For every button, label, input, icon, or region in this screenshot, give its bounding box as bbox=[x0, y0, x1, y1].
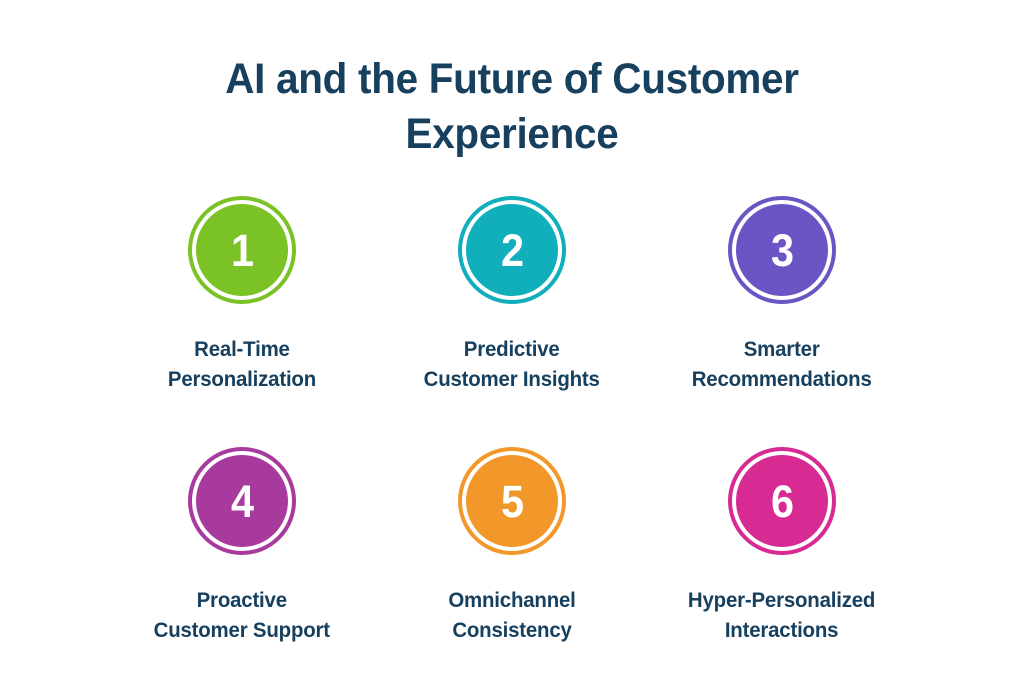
badge-3-number: 3 bbox=[771, 228, 793, 273]
item-2: 2 Predictive Customer Insights bbox=[377, 196, 647, 394]
item-3-caption-line-2: Recommendations bbox=[692, 364, 872, 394]
item-6-caption: Hyper-Personalized Interactions bbox=[683, 585, 880, 645]
item-1-caption: Real-Time Personalization bbox=[164, 334, 320, 394]
item-1-caption-line-2: Personalization bbox=[168, 364, 316, 394]
badge-2-number: 2 bbox=[501, 228, 523, 273]
item-6-caption-line-2: Interactions bbox=[688, 615, 875, 645]
item-5-caption-line-2: Consistency bbox=[448, 615, 575, 645]
item-4: 4 Proactive Customer Support bbox=[107, 447, 377, 645]
item-1-caption-line-1: Real-Time bbox=[168, 334, 316, 364]
badge-3: 3 bbox=[728, 196, 836, 304]
item-4-caption-line-1: Proactive bbox=[154, 585, 330, 615]
item-4-caption-line-2: Customer Support bbox=[154, 615, 330, 645]
badge-4-number: 4 bbox=[231, 479, 253, 524]
item-6: 6 Hyper-Personalized Interactions bbox=[647, 447, 917, 645]
infographic-canvas: AI and the Future of Customer Experience… bbox=[0, 0, 1024, 683]
badge-5: 5 bbox=[458, 447, 566, 555]
items-grid: 1 Real-Time Personalization 2 Predictive… bbox=[107, 196, 917, 645]
item-3-caption-line-1: Smarter bbox=[692, 334, 872, 364]
item-2-caption: Predictive Customer Insights bbox=[419, 334, 604, 394]
item-6-caption-line-1: Hyper-Personalized bbox=[688, 585, 875, 615]
item-5-caption: Omnichannel Consistency bbox=[445, 585, 579, 645]
badge-6-number: 6 bbox=[771, 479, 793, 524]
item-2-caption-line-2: Customer Insights bbox=[424, 364, 600, 394]
item-2-caption-line-1: Predictive bbox=[424, 334, 600, 364]
item-3-caption: Smarter Recommendations bbox=[687, 334, 876, 394]
page-title-line-1: AI and the Future of Customer bbox=[183, 52, 841, 107]
item-3: 3 Smarter Recommendations bbox=[647, 196, 917, 394]
badge-4: 4 bbox=[188, 447, 296, 555]
badge-1: 1 bbox=[188, 196, 296, 304]
items-row-2: 4 Proactive Customer Support 5 Omnichann… bbox=[107, 447, 917, 645]
page-title: AI and the Future of Customer Experience bbox=[162, 52, 862, 162]
item-5-caption-line-1: Omnichannel bbox=[448, 585, 575, 615]
badge-6: 6 bbox=[728, 447, 836, 555]
badge-1-number: 1 bbox=[231, 228, 253, 273]
badge-5-number: 5 bbox=[501, 479, 523, 524]
badge-2: 2 bbox=[458, 196, 566, 304]
item-1: 1 Real-Time Personalization bbox=[107, 196, 377, 394]
item-4-caption: Proactive Customer Support bbox=[149, 585, 335, 645]
page-title-line-2: Experience bbox=[183, 107, 841, 162]
item-5: 5 Omnichannel Consistency bbox=[377, 447, 647, 645]
items-row-1: 1 Real-Time Personalization 2 Predictive… bbox=[107, 196, 917, 394]
